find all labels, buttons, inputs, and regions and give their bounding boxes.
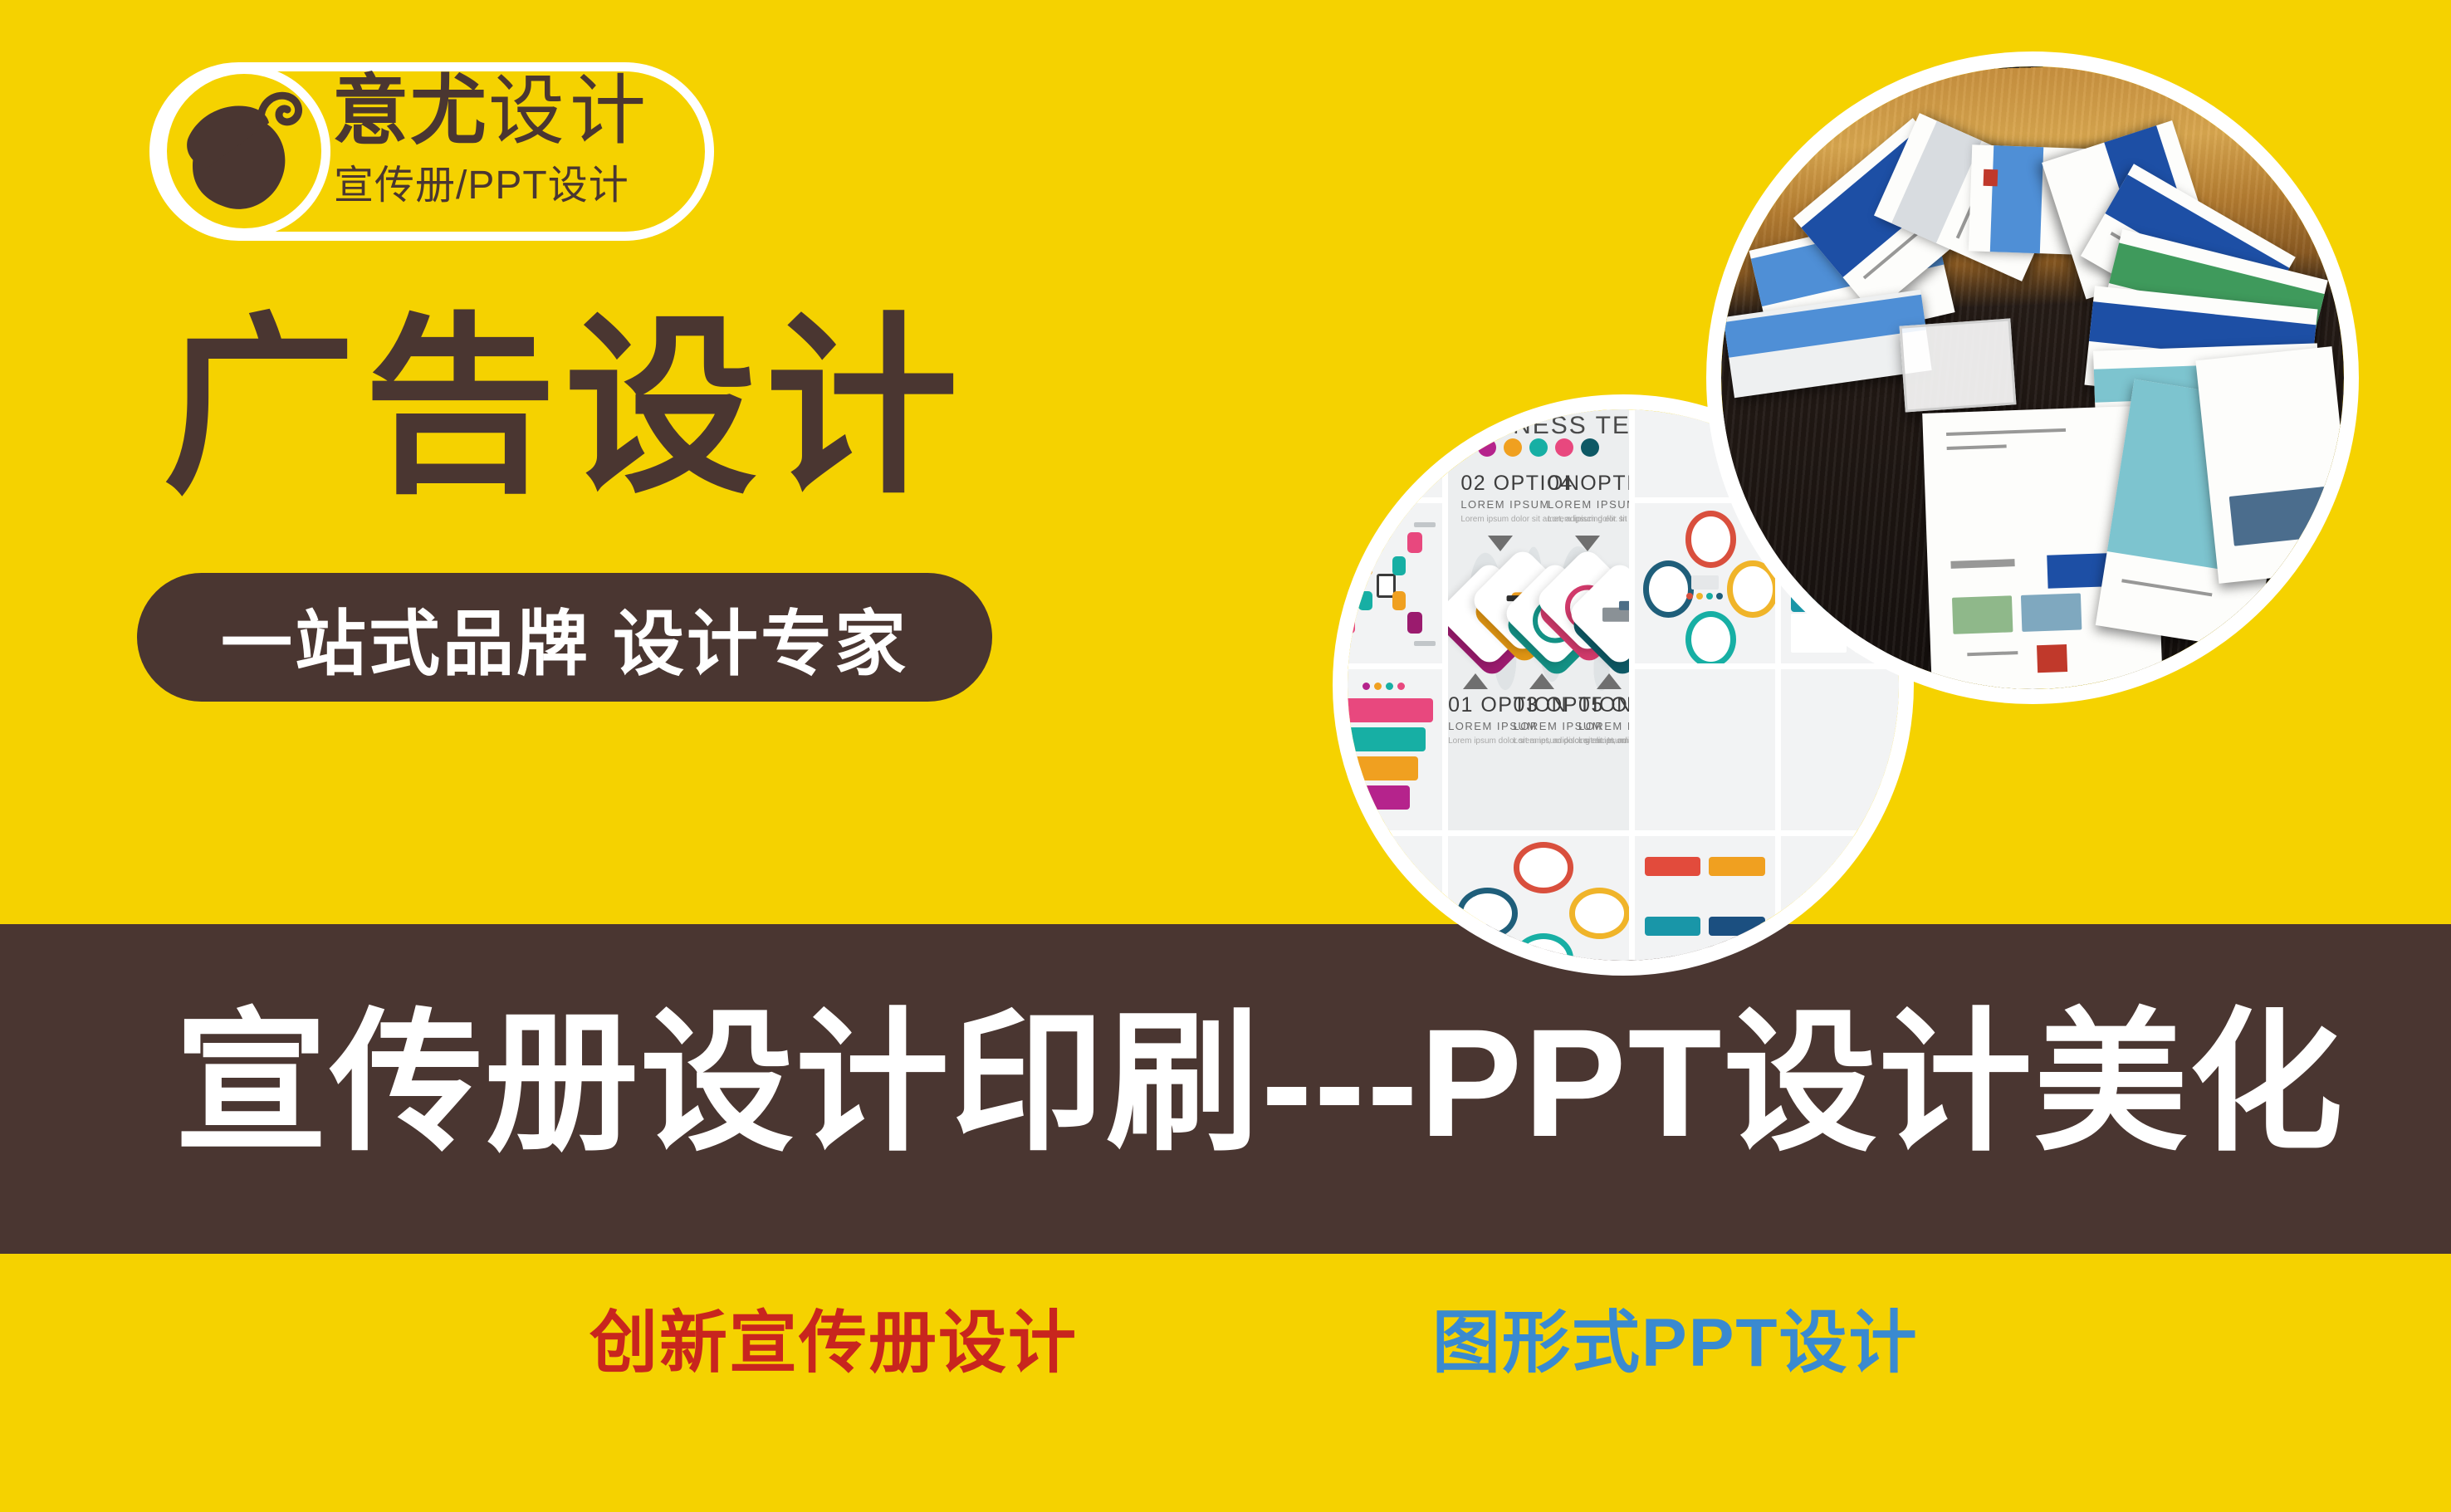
page-title: 广告设计 [163, 309, 966, 508]
brochure-photo [1706, 51, 2359, 704]
dot-5 [1581, 438, 1599, 457]
brochure-card [2195, 346, 2344, 584]
ppt-thumb-plain-d [1781, 669, 1899, 830]
slide-option-01: 01 OPTION LOREM IPSUM Lorem ipsum dolor … [1448, 693, 1504, 747]
tagline-text: 一站式品牌 设计专家 [137, 573, 992, 702]
arrow-up-icon-05 [1597, 673, 1622, 689]
slide-title: BUSINESS TEMPLATE [1448, 412, 1629, 440]
slide-option-03: 03 OPTION LOREM IPSUM Lorem ipsum dolor … [1514, 693, 1570, 747]
ad-banner-canvas: BUSINESS TEMPLATE 02 OPTION LOREM IPSUM … [0, 0, 2451, 1512]
logo-brand-heavy: 意尤 [332, 69, 488, 154]
arrow-up-icon-01 [1463, 673, 1488, 689]
arrow-up-icon-03 [1529, 673, 1554, 689]
ppt-main-slide: BUSINESS TEMPLATE 02 OPTION LOREM IPSUM … [1448, 409, 1629, 830]
ppt-thumb-hexring [1448, 836, 1629, 961]
slide-option-02: 02 OPTION LOREM IPSUM Lorem ipsum dolor … [1460, 472, 1520, 526]
ppt-thumb-ribbons [1348, 409, 1442, 497]
caption-ppt-design: 图形式PPT设计 [1432, 1304, 1918, 1383]
brochure-photo-clip [1721, 66, 2344, 689]
caption-brochure-design: 创新宣传册设计 [590, 1304, 1078, 1383]
dot-1 [1478, 438, 1496, 457]
dot-3 [1529, 438, 1548, 457]
dot-2 [1504, 438, 1522, 457]
dot-4 [1555, 438, 1573, 457]
banner-headline: 宣传册设计印刷---PPT设计美化 [174, 1001, 2345, 1167]
logo-brand-light: 设计 [488, 69, 651, 154]
slide-option-04: 04 OPTION LOREM IPSUM Lorem ipsum dolor … [1548, 472, 1607, 526]
tagline-pill: 一站式品牌 设计专家 [137, 573, 992, 702]
slide-option-05: 05 OPTION LOREM IPSUM Lorem ipsum dolor … [1578, 693, 1629, 747]
business-card-holder [1899, 318, 2015, 412]
ppt-thumb-funnel [1348, 669, 1442, 830]
logo-wordmark: 意尤设计 [332, 66, 722, 156]
ppt-thumb-arrow [1348, 836, 1442, 961]
logo-subtitle: 宣传册/PPT设计 [334, 163, 629, 209]
slide-dot-row [1448, 438, 1629, 457]
ppt-thumb-plain-c [1635, 669, 1775, 830]
background-band-yellow-bottom [0, 1254, 2451, 1512]
arrow-down-icon-02 [1488, 536, 1513, 551]
ppt-thumb-steps-2 [1635, 836, 1775, 961]
eggplant-mascot-icon [174, 81, 316, 223]
arrow-down-icon-04 [1575, 536, 1600, 551]
ppt-thumb-plain-e [1781, 836, 1899, 961]
ppt-thumb-cross-nodes [1348, 503, 1442, 664]
